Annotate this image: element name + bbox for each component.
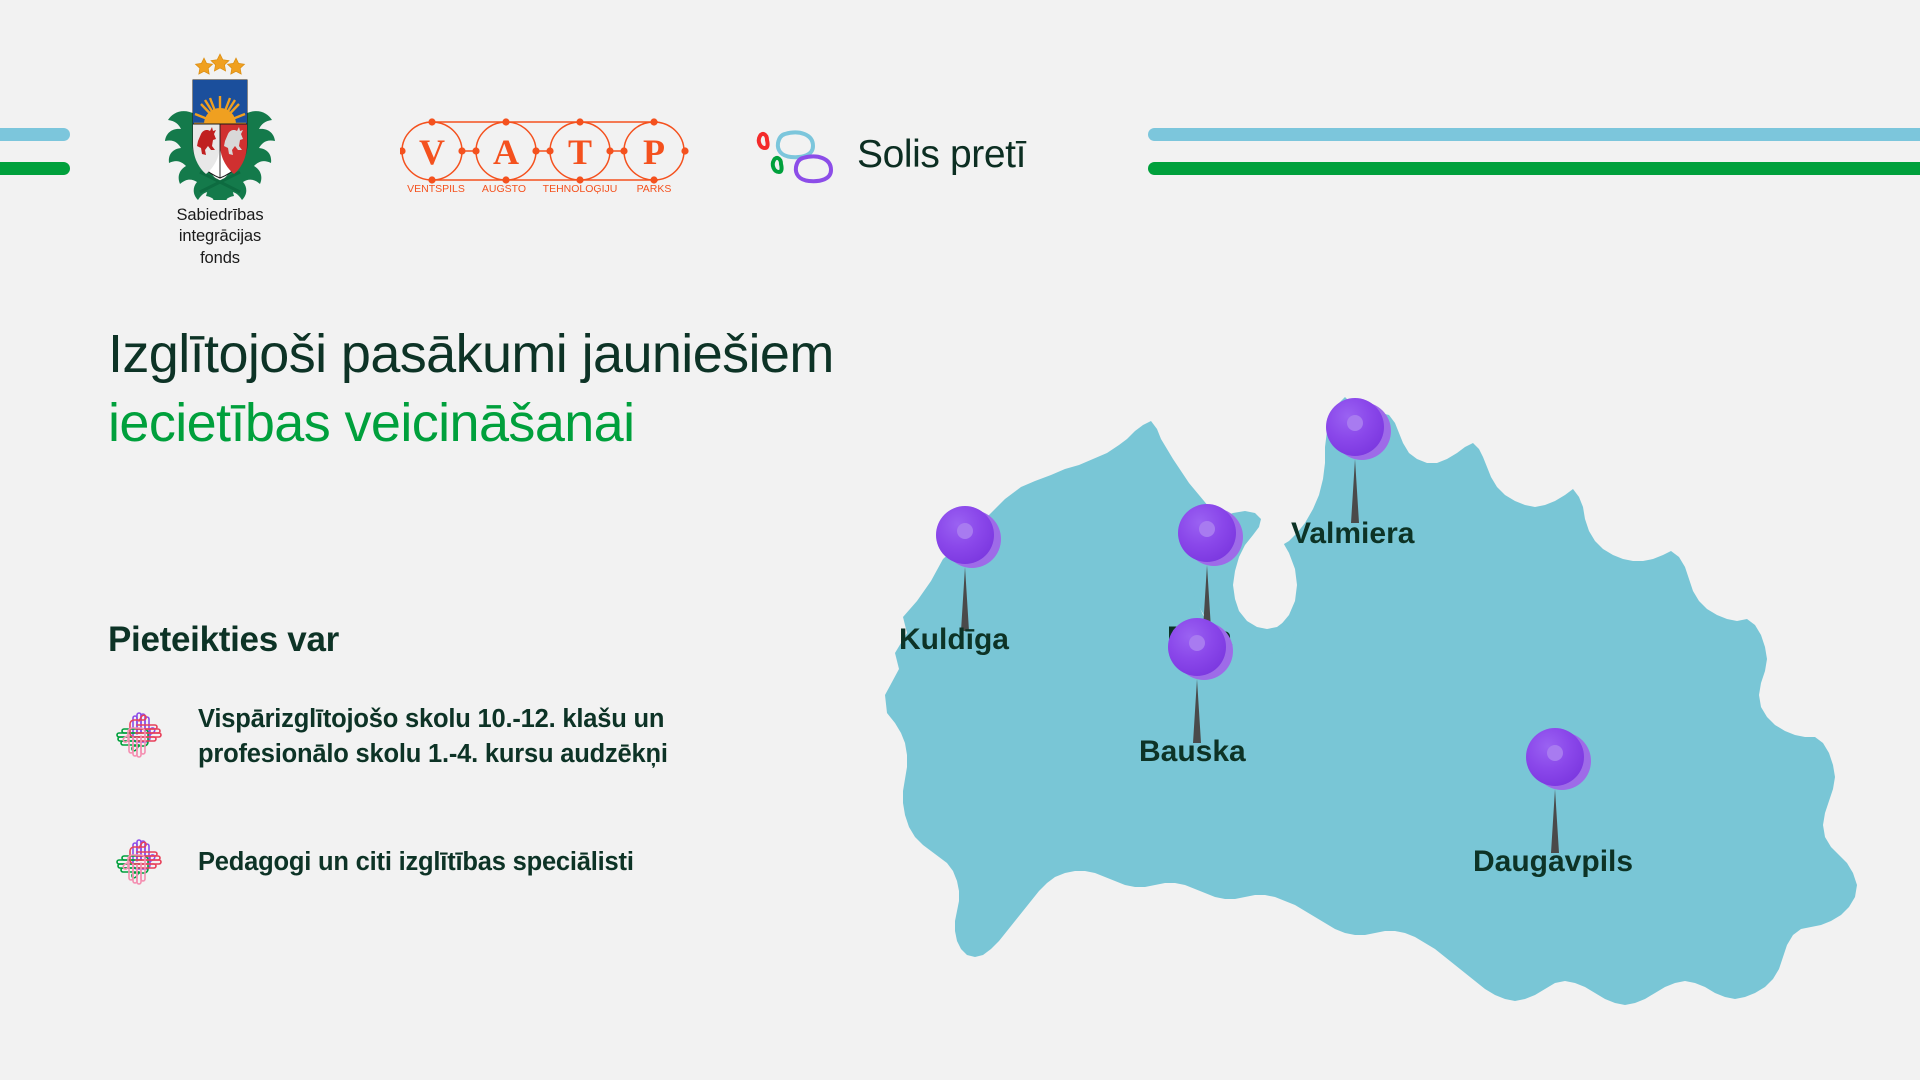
sif-caption-line1: Sabiedrības integrācijas: [150, 205, 290, 248]
vatp-letter-p: P: [643, 132, 665, 172]
pin-inner-dot: [1199, 521, 1215, 537]
vatp-word-tehnologiju: TEHNOLOĢIJU: [543, 183, 618, 194]
logo-strip: Sabiedrības integrācijas fonds: [0, 0, 1148, 260]
map-label-kuldiga: Kuldīga: [899, 623, 1009, 656]
page-title-line2: iecietības veicināšanai: [108, 389, 834, 458]
map-label-valmiera: Valmiera: [1291, 517, 1415, 550]
sif-logo: Sabiedrības integrācijas fonds: [150, 52, 290, 269]
list-item-label: Vispārizglītojošo skolu 10.-12. klašu un…: [198, 702, 798, 771]
sif-caption-line2: fonds: [150, 248, 290, 269]
footprints-icon: [755, 124, 841, 186]
pin-inner-dot: [1347, 415, 1363, 431]
eligibility-list: Vispārizglītojošo skolu 10.-12. klašu un…: [108, 702, 808, 893]
vatp-letter-t: T: [568, 132, 592, 172]
latvia-map: Kuldīga Rīga Valmiera: [855, 395, 1920, 1035]
eligibility-heading: Pieteikties var: [108, 620, 808, 660]
vatp-logo: V A T P VENTSPILS AUGSTO TEHNOLOĢIJU PAR…: [400, 112, 692, 194]
list-item-label: Pedagogi un citi izglītības speciālisti: [198, 845, 634, 880]
blue-rule: [1148, 128, 1920, 141]
map-label-bauska: Bauska: [1139, 735, 1246, 768]
map-label-daugavpils: Daugavpils: [1473, 845, 1633, 878]
vatp-word-ventspils: VENTSPILS: [407, 183, 465, 194]
four-hands-icon: [108, 831, 170, 893]
decor-rules-right: [1148, 128, 1920, 175]
list-item: Pedagogi un citi izglītības speciālisti: [108, 829, 808, 893]
page-title: Izglītojoši pasākumi jauniešiem iecietīb…: [108, 320, 834, 458]
pin-inner-dot: [957, 523, 973, 539]
pin-inner-dot: [1189, 635, 1205, 651]
latvia-map-svg: Kuldīga Rīga Valmiera: [855, 395, 1920, 1035]
green-rule: [1148, 162, 1920, 175]
list-item: Vispārizglītojošo skolu 10.-12. klašu un…: [108, 702, 808, 771]
latvia-coat-of-arms-icon: [155, 52, 285, 200]
vatp-letter-v: V: [419, 132, 445, 172]
vatp-letter-a: A: [493, 132, 519, 172]
page-title-line1: Izglītojoši pasākumi jauniešiem: [108, 320, 834, 389]
four-hands-icon: [108, 704, 170, 766]
latvia-landmass: [885, 397, 1857, 1005]
vatp-word-augsto: AUGSTO: [482, 183, 526, 194]
vatp-logo-icon: V A T P VENTSPILS AUGSTO TEHNOLOĢIJU PAR…: [400, 112, 692, 194]
pin-inner-dot: [1547, 745, 1563, 761]
solis-preti-text: Solis pretī: [857, 133, 1026, 177]
vatp-word-parks: PARKS: [637, 183, 672, 194]
eligibility-section: Pieteikties var: [108, 620, 808, 893]
sif-caption: Sabiedrības integrācijas fonds: [150, 205, 290, 269]
solis-preti-logo: Solis pretī: [755, 124, 1026, 186]
